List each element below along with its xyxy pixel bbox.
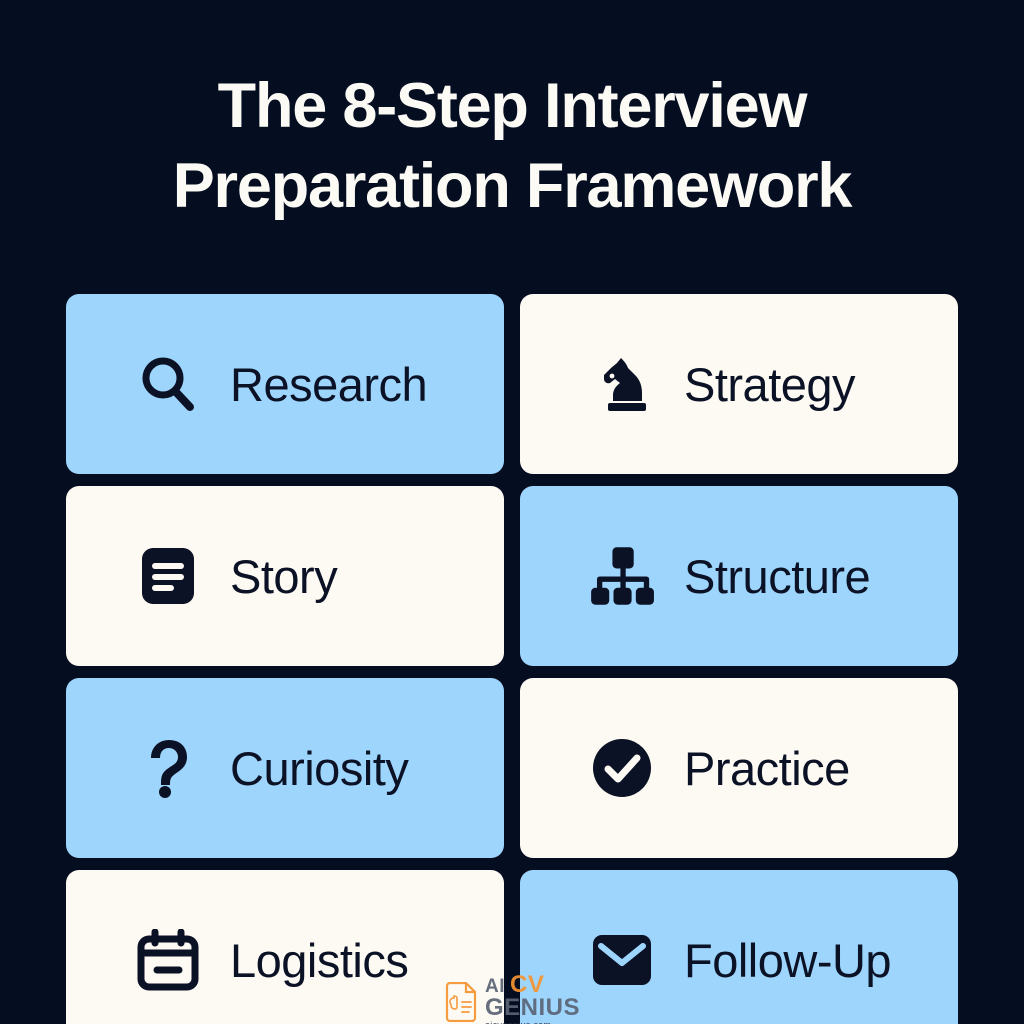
- chess-knight-icon: [589, 351, 655, 417]
- step-card-strategy[interactable]: Strategy: [520, 294, 958, 474]
- step-card-label: Logistics: [230, 937, 408, 984]
- step-card-label: Curiosity: [230, 745, 408, 792]
- step-card-research[interactable]: Research: [66, 294, 504, 474]
- watermark-logo: AI CV GENIUS aicvgenius.com: [444, 974, 580, 1024]
- calendar-minus-icon: [135, 927, 201, 993]
- page-title: The 8-Step Interview Preparation Framewo…: [0, 66, 1024, 226]
- watermark-url: aicvgenius.com: [485, 1021, 580, 1024]
- check-circle-icon: [589, 735, 655, 801]
- step-card-logistics[interactable]: Logistics: [66, 870, 504, 1024]
- watermark-genius-text: GENIUS: [485, 997, 580, 1020]
- step-card-label: Strategy: [684, 361, 855, 408]
- step-card-label: Story: [230, 553, 337, 600]
- infographic-canvas: The 8-Step Interview Preparation Framewo…: [0, 0, 1024, 1024]
- envelope-icon: [589, 927, 655, 993]
- step-card-label: Research: [230, 361, 427, 408]
- step-card-practice[interactable]: Practice: [520, 678, 958, 858]
- question-mark-icon: [135, 735, 201, 801]
- magnifying-glass-icon: [135, 351, 201, 417]
- text-lines-icon: [135, 543, 201, 609]
- step-card-structure[interactable]: Structure: [520, 486, 958, 666]
- step-card-story[interactable]: Story: [66, 486, 504, 666]
- step-card-follow-up[interactable]: Follow-Up: [520, 870, 958, 1024]
- framework-step-grid: Research Strategy: [66, 294, 958, 1012]
- title-line-2: Preparation Framework: [0, 146, 1024, 226]
- title-line-1: The 8-Step Interview: [0, 66, 1024, 146]
- document-brain-icon: [444, 982, 478, 1022]
- step-card-label: Structure: [684, 553, 870, 600]
- org-chart-icon: [589, 543, 655, 609]
- step-card-label: Follow-Up: [684, 937, 891, 984]
- step-card-curiosity[interactable]: Curiosity: [66, 678, 504, 858]
- step-card-label: Practice: [684, 745, 850, 792]
